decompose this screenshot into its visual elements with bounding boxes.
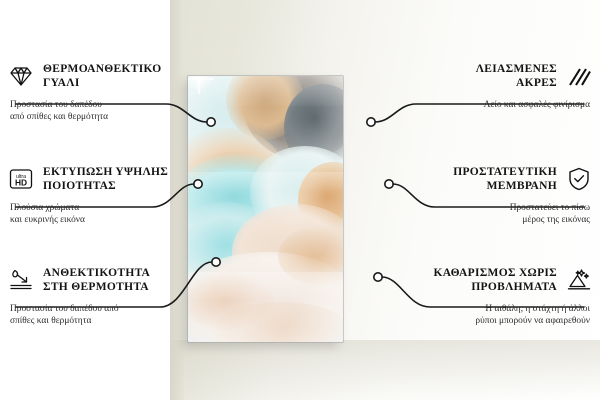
feature-easy-cleaning: ΚΑΘΑΡΙΣΜΟΣ ΧΩΡΙΣ ΠΡΟΒΛΗΜΑΤΑ Η αιθάλη, η … <box>410 266 592 328</box>
easy-clean-icon <box>566 267 592 293</box>
feature-heat-resistance: ΑΝΘΕΚΤΙΚΟΤΗΤΑ ΣΤΗ ΘΕΡΜΟΤΗΤΑ Προστασία το… <box>8 266 190 328</box>
feature-subtitle: Προστασία του δαπέδου από σπίθες και θερ… <box>8 99 190 124</box>
feature-subtitle: Προστατεύει το πίσω μέρος της εικόνας <box>410 202 592 227</box>
feature-heat-resistant-glass: ΘΕΡΜΟΑΝΘΕΚΤΙΚΟ ΓΥΑΛΙ Προστασία του δαπέδ… <box>8 62 190 124</box>
feature-title: ΕΚΤΥΠΩΣΗ ΥΨΗΛΗΣ ΠΟΙΟΤΗΤΑΣ <box>43 165 168 193</box>
svg-text:HD: HD <box>15 178 27 188</box>
diamond-icon <box>8 63 34 89</box>
feature-title: ΠΡΟΣΤΑΤΕΥΤΙΚΗ ΜΕΜΒΡΑΝΗ <box>453 165 557 193</box>
feature-header: ΠΡΟΣΤΑΤΕΥΤΙΚΗ ΜΕΜΒΡΑΝΗ <box>410 165 592 193</box>
feature-subtitle: Η αιθάλη, η στάχτη ή άλλοι ρύποι μπορούν… <box>410 303 592 328</box>
feature-title: ΛΕΙΑΣΜΕΝΕΣ ΑΚΡΕΣ <box>476 62 557 90</box>
feature-polished-edges: ΛΕΙΑΣΜΕΝΕΣ ΑΚΡΕΣ Λείο και ασφαλές φινίρι… <box>410 62 592 111</box>
polished-edges-icon <box>566 63 592 89</box>
feature-header: ΛΕΙΑΣΜΕΝΕΣ ΑΚΡΕΣ <box>410 62 592 90</box>
feature-header: ΚΑΘΑΡΙΣΜΟΣ ΧΩΡΙΣ ΠΡΟΒΛΗΜΑΤΑ <box>410 266 592 294</box>
feature-high-quality-print: ultra HD ΕΚΤΥΠΩΣΗ ΥΨΗΛΗΣ ΠΟΙΟΤΗΤΑΣ Πλούσ… <box>8 165 190 227</box>
feature-header: ultra HD ΕΚΤΥΠΩΣΗ ΥΨΗΛΗΣ ΠΟΙΟΤΗΤΑΣ <box>8 165 190 193</box>
feature-protective-film: ΠΡΟΣΤΑΤΕΥΤΙΚΗ ΜΕΜΒΡΑΝΗ Προστατεύει το πί… <box>410 165 592 227</box>
feature-title: ΑΝΘΕΚΤΙΚΟΤΗΤΑ ΣΤΗ ΘΕΡΜΟΤΗΤΑ <box>43 266 150 294</box>
feature-header: ΑΝΘΕΚΤΙΚΟΤΗΤΑ ΣΤΗ ΘΕΡΜΟΤΗΤΑ <box>8 266 190 294</box>
ultra-hd-icon: ultra HD <box>8 166 34 192</box>
heat-resistance-icon <box>8 267 34 293</box>
feature-subtitle: Λείο και ασφαλές φινίρισμα <box>410 99 592 111</box>
feature-title: ΚΑΘΑΡΙΣΜΟΣ ΧΩΡΙΣ ΠΡΟΒΛΗΜΑΤΑ <box>433 266 557 294</box>
feature-title: ΘΕΡΜΟΑΝΘΕΚΤΙΚΟ ΓΥΑΛΙ <box>43 62 162 90</box>
feature-subtitle: Προστασία του δαπέδου από σπίθες και θερ… <box>8 303 190 328</box>
shield-check-icon <box>566 166 592 192</box>
feature-subtitle: Πλούσια χρώματα και ευκρινής εικόνα <box>8 202 190 227</box>
feature-header: ΘΕΡΜΟΑΝΘΕΚΤΙΚΟ ΓΥΑΛΙ <box>8 62 190 90</box>
infographic-canvas: ΘΕΡΜΟΑΝΘΕΚΤΙΚΟ ΓΥΑΛΙ Προστασία του δαπέδ… <box>0 0 600 400</box>
